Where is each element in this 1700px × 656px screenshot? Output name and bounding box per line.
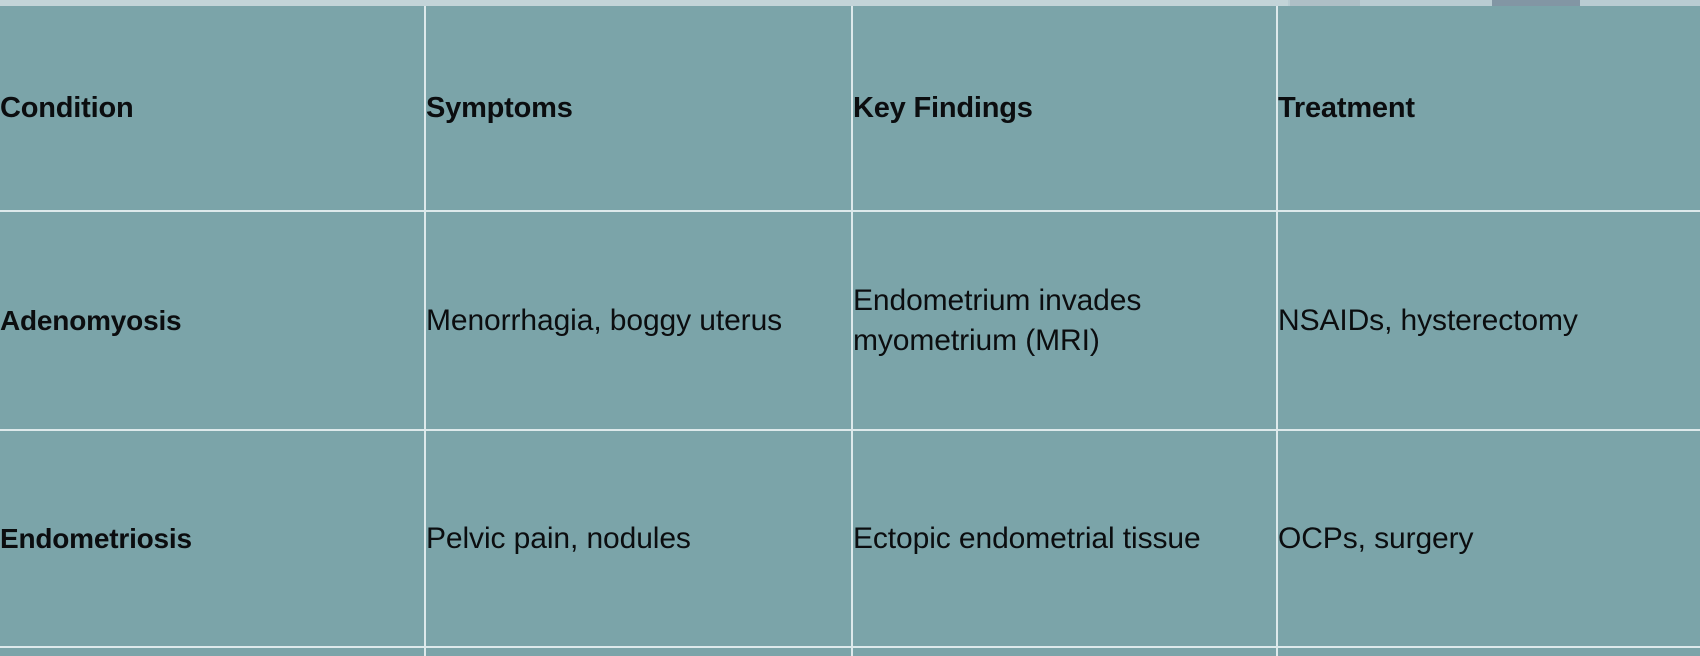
- cell-treatment-text: NSAIDs, hysterectomy: [1278, 301, 1686, 341]
- cell-treatment: NSAIDs, hysterectomy: [1277, 211, 1700, 430]
- cell-key-findings: Endometrium invades myometrium (MRI): [852, 211, 1277, 430]
- cell-condition: [0, 647, 425, 656]
- cell-treatment: OCPs, surgery: [1277, 430, 1700, 647]
- cell-key-findings-text: Ectopic endometrial tissue: [853, 519, 1262, 559]
- column-header-condition[interactable]: Condition: [0, 6, 425, 211]
- cell-condition-text: Endometriosis: [0, 520, 410, 557]
- cell-symptoms: Menorrhagia, boggy uterus: [425, 211, 852, 430]
- comparison-table: Condition Symptoms Key Findings Treatmen…: [0, 6, 1700, 656]
- cell-treatment-text: OCPs, surgery: [1278, 519, 1686, 559]
- cell-symptoms: [425, 647, 852, 656]
- table-header-row: Condition Symptoms Key Findings Treatmen…: [0, 6, 1700, 211]
- cell-condition: Adenomyosis: [0, 211, 425, 430]
- cell-symptoms: Pelvic pain, nodules: [425, 430, 852, 647]
- cell-key-findings-text: Endometrium invades myometrium (MRI): [853, 281, 1262, 361]
- cell-condition: Endometriosis: [0, 430, 425, 647]
- table-row: Endometriosis Pelvic pain, nodules Ectop…: [0, 430, 1700, 647]
- cell-symptoms-text: Menorrhagia, boggy uterus: [426, 301, 837, 341]
- cell-key-findings: [852, 647, 1277, 656]
- column-header-treatment-label: Treatment: [1278, 91, 1686, 125]
- column-header-symptoms-label: Symptoms: [426, 91, 837, 125]
- column-header-symptoms[interactable]: Symptoms: [425, 6, 852, 211]
- column-header-treatment[interactable]: Treatment: [1277, 6, 1700, 211]
- table-body: Adenomyosis Menorrhagia, boggy uterus En…: [0, 211, 1700, 656]
- column-header-key-findings[interactable]: Key Findings: [852, 6, 1277, 211]
- cell-symptoms-text: Pelvic pain, nodules: [426, 519, 837, 559]
- table-row: Adenomyosis Menorrhagia, boggy uterus En…: [0, 211, 1700, 430]
- column-header-condition-label: Condition: [0, 91, 410, 125]
- cell-key-findings: Ectopic endometrial tissue: [852, 430, 1277, 647]
- column-header-key-findings-label: Key Findings: [853, 91, 1262, 125]
- cell-condition-text: Adenomyosis: [0, 302, 410, 339]
- table-header: Condition Symptoms Key Findings Treatmen…: [0, 6, 1700, 211]
- table-row-partial: [0, 647, 1700, 656]
- cell-treatment: [1277, 647, 1700, 656]
- table-container: Condition Symptoms Key Findings Treatmen…: [0, 6, 1700, 656]
